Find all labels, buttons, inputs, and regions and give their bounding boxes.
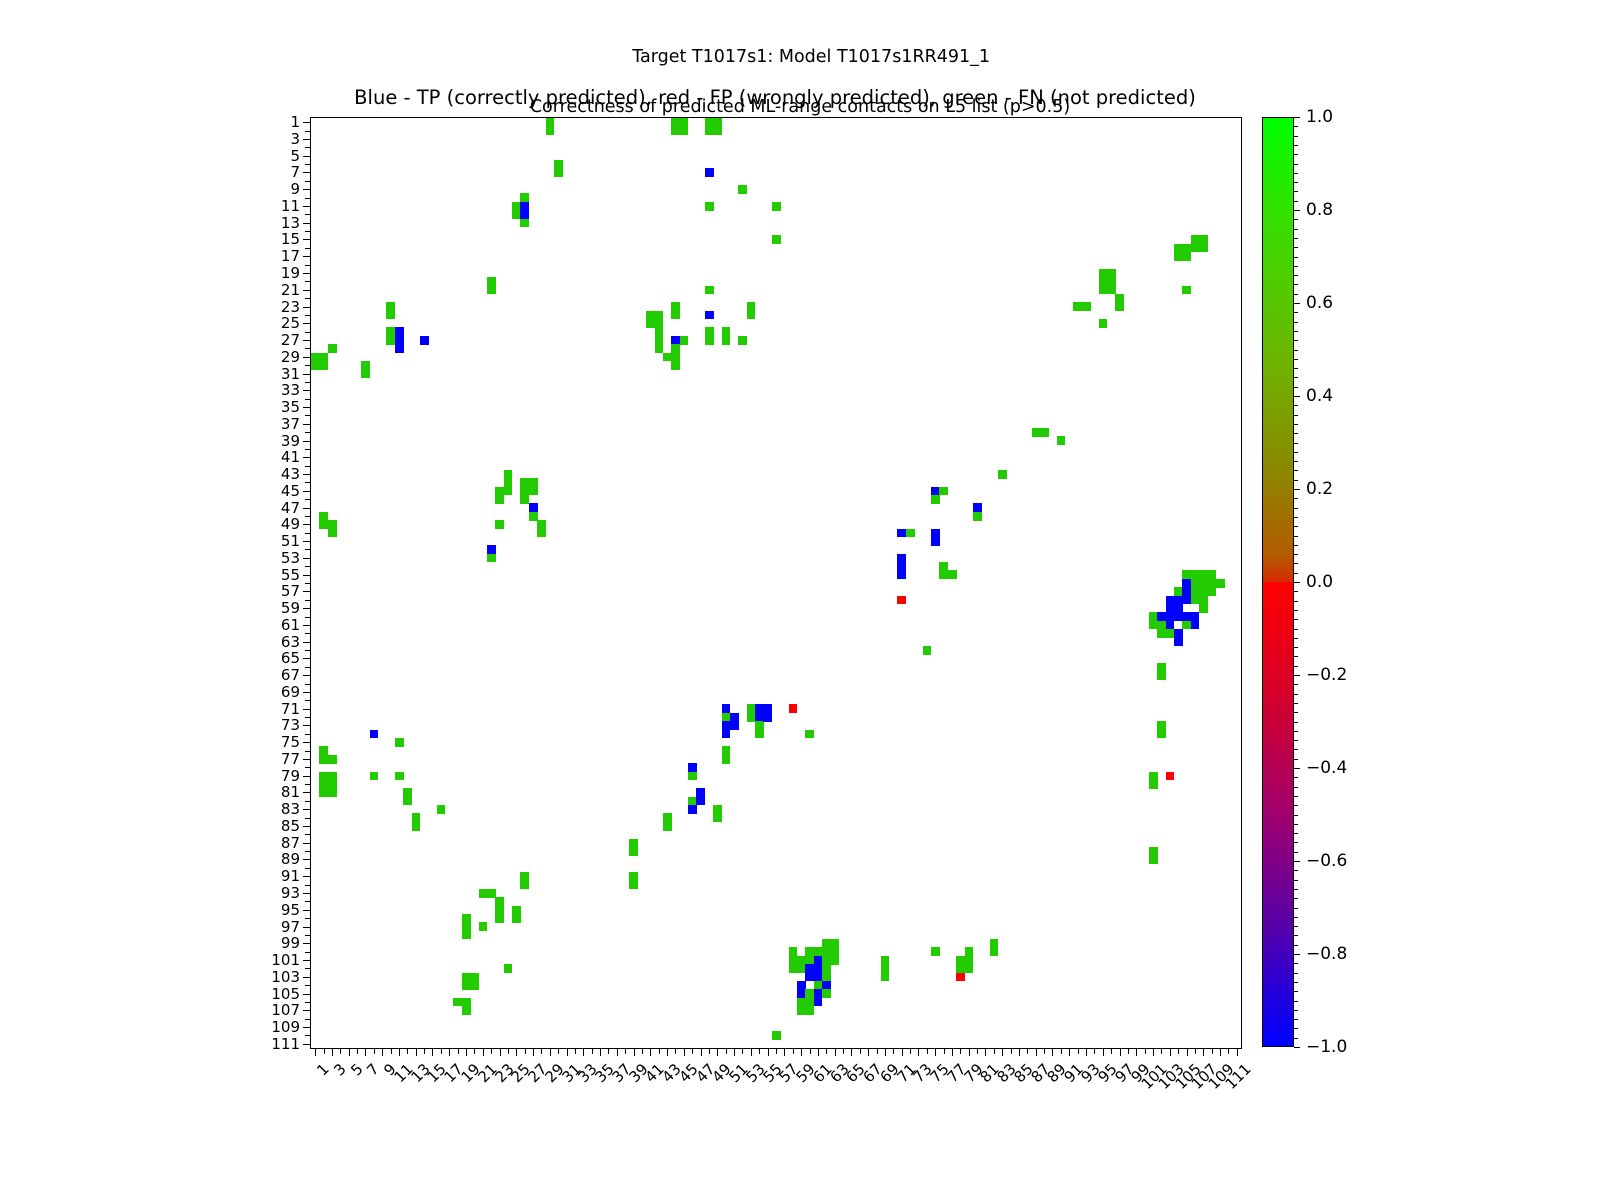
y-tick [303,843,311,844]
colorbar-minor-tick [1294,182,1298,183]
heatmap-cell [386,311,395,320]
x-tick [726,1048,727,1054]
x-tick [1103,1048,1104,1056]
x-tick [759,1048,760,1054]
x-tick [365,1048,366,1056]
heatmap-cell [990,947,999,956]
y-tick [303,457,311,458]
y-tick [303,340,311,341]
y-tick [303,1027,311,1028]
colorbar-minor-tick [1294,777,1298,778]
heatmap-cell [755,730,764,739]
y-tick-label: 25 [281,314,300,332]
y-tick-label: 79 [281,767,300,785]
x-tick [944,1048,945,1054]
colorbar-tick [1294,582,1300,583]
y-tick-label: 17 [281,247,300,265]
x-tick [600,1048,601,1056]
colorbar-minor-tick [1294,164,1298,165]
colorbar-minor-tick [1294,173,1298,174]
y-tick-label: 57 [281,582,300,600]
x-tick [977,1048,978,1054]
x-tick [500,1048,501,1056]
y-tick [303,122,311,123]
x-tick [860,1048,861,1054]
y-tick-label: 89 [281,850,300,868]
heatmap-cell [495,520,504,529]
heatmap-cell [504,964,513,973]
colorbar-minor-tick [1294,154,1298,155]
heatmap-cell [772,202,781,211]
y-tick [305,449,311,450]
y-tick [303,709,311,710]
heatmap-cell [897,570,906,579]
heatmap-cell [822,989,831,998]
y-tick-label: 35 [281,398,300,416]
x-tick-label: 5 [347,1060,366,1079]
x-tick [575,1048,576,1054]
x-tick [810,1048,811,1054]
y-tick-label: 103 [271,968,300,986]
colorbar-minor-tick [1294,666,1298,667]
colorbar-minor-tick [1294,536,1298,537]
y-tick [303,156,311,157]
colorbar-minor-tick [1294,145,1298,146]
x-tick [1052,1048,1053,1056]
x-tick [608,1048,609,1054]
x-tick [1111,1048,1112,1054]
x-tick [458,1048,459,1054]
colorbar-minor-tick [1294,359,1298,360]
colorbar-tick [1294,675,1300,676]
colorbar-minor-tick [1294,322,1298,323]
colorbar-minor-tick [1294,126,1298,127]
y-tick [305,717,311,718]
colorbar-minor-tick [1294,377,1298,378]
heatmap-cell [420,336,429,345]
heatmap-cell [705,202,714,211]
heatmap-cell [923,646,932,655]
y-tick [303,374,311,375]
y-tick [303,508,311,509]
colorbar-minor-tick [1294,722,1298,723]
x-tick [533,1048,534,1056]
y-tick [303,591,311,592]
y-tick [303,290,311,291]
y-tick-label: 87 [281,834,300,852]
heatmap-cell [772,1031,781,1040]
heatmap-cell [1207,587,1216,596]
y-tick [305,315,311,316]
y-tick [303,977,311,978]
y-tick-label: 109 [271,1018,300,1036]
y-tick-label: 31 [281,365,300,383]
colorbar-minor-tick [1294,229,1298,230]
colorbar-minor-tick [1294,703,1298,704]
heatmap-cell [487,554,496,563]
y-tick [303,223,311,224]
y-tick [305,901,311,902]
y-tick [305,365,311,366]
y-tick [305,834,311,835]
colorbar-minor-tick [1294,787,1298,788]
heatmap-cell [1182,252,1191,261]
x-tick [407,1048,408,1054]
colorbar-minor-tick [1294,350,1298,351]
colorbar-tick-label: −1.0 [1306,1037,1347,1057]
heatmap-cell [495,914,504,923]
y-tick [305,164,311,165]
y-tick-label: 39 [281,432,300,450]
colorbar-minor-tick [1294,712,1298,713]
heatmap-cell [328,755,337,764]
heatmap-cell [470,981,479,990]
y-tick [303,1010,311,1011]
colorbar-minor-tick [1294,973,1298,974]
y-tick [305,281,311,282]
colorbar-minor-tick [1294,340,1298,341]
colorbar-tick-label: −0.2 [1306,665,1347,685]
heatmap-cell [671,361,680,370]
heatmap-cell [948,570,957,579]
x-tick [952,1048,953,1056]
y-tick [303,575,311,576]
x-tick [382,1048,383,1056]
y-tick [305,952,311,953]
y-tick-label: 5 [290,147,300,165]
y-tick-label: 95 [281,901,300,919]
y-tick [303,792,311,793]
x-tick [642,1048,643,1054]
heatmap-cell [747,311,756,320]
colorbar-tick [1294,954,1300,955]
heatmap-cell [830,956,839,965]
y-tick-label: 11 [281,197,300,215]
colorbar-minor-tick [1294,498,1298,499]
y-tick [303,491,311,492]
colorbar-minor-tick [1294,824,1298,825]
y-tick [303,826,311,827]
y-tick-label: 41 [281,448,300,466]
colorbar-tick [1294,489,1300,490]
colorbar-minor-tick [1294,647,1298,648]
y-tick-label: 71 [281,700,300,718]
y-tick [305,332,311,333]
x-tick [868,1048,869,1056]
y-tick [305,1002,311,1003]
colorbar-minor-tick [1294,749,1298,750]
y-tick [305,700,311,701]
y-tick [303,608,311,609]
x-tick [877,1048,878,1054]
x-tick [374,1048,375,1054]
y-tick [303,273,311,274]
heatmap-cell [361,369,370,378]
colorbar-tick-label: 0.0 [1306,572,1333,592]
x-tick [416,1048,417,1056]
colorbar-minor-tick [1294,219,1298,220]
y-tick-label: 37 [281,415,300,433]
heatmap-cell [328,344,337,353]
x-tick [650,1048,651,1056]
y-tick-label: 47 [281,499,300,517]
colorbar-tick-label: −0.8 [1306,944,1347,964]
heatmap-cell [546,126,555,135]
y-tick [303,994,311,995]
x-tick [483,1048,484,1056]
y-tick [305,265,311,266]
heatmap-cell [897,596,906,605]
heatmap-cell [931,947,940,956]
y-tick-label: 59 [281,599,300,617]
x-tick [583,1048,584,1056]
heatmap-cell [881,973,890,982]
heatmap-cell [998,470,1007,479]
heatmap-cell [403,797,412,806]
x-tick [918,1048,919,1056]
colorbar-minor-tick [1294,731,1298,732]
figure-canvas: Target T1017s1: Model T1017s1RR491_1 Cor… [0,0,1600,1200]
heatmap-cell [713,126,722,135]
colorbar-minor-tick [1294,284,1298,285]
heatmap-cell [680,336,689,345]
colorbar-tick [1294,768,1300,769]
colorbar-minor-tick [1294,387,1298,388]
heatmap-cell [629,847,638,856]
heatmap-cell [688,805,697,814]
y-tick [305,868,311,869]
colorbar-minor-tick [1294,898,1298,899]
colorbar-minor-tick [1294,470,1298,471]
colorbar-minor-tick [1294,415,1298,416]
colorbar-minor-tick [1294,480,1298,481]
colorbar-minor-tick [1294,526,1298,527]
colorbar-tick [1294,396,1300,397]
colorbar-minor-tick [1294,136,1298,137]
heatmap-cell [1174,637,1183,646]
y-tick-label: 53 [281,549,300,567]
heatmap-cell [1166,772,1175,781]
colorbar-minor-tick [1294,935,1298,936]
contact-map-plot[interactable]: 1357911131517192123252729313335373941434… [310,117,1242,1049]
x-tick [1203,1048,1204,1056]
colorbar-minor-tick [1294,563,1298,564]
y-tick-label: 111 [271,1035,300,1053]
y-tick [303,943,311,944]
colorbar-minor-tick [1294,833,1298,834]
x-tick [734,1048,735,1056]
y-tick [305,131,311,132]
colorbar-minor-tick [1294,796,1298,797]
x-tick [1086,1048,1087,1056]
y-tick [303,239,311,240]
colorbar-minor-tick [1294,805,1298,806]
heatmap-cell [512,914,521,923]
y-tick [303,876,311,877]
heatmap-cell [520,219,529,228]
colorbar-gradient [1262,117,1294,1047]
y-tick [305,533,311,534]
heatmap-cell [370,730,379,739]
colorbar-tick-label: 0.8 [1306,200,1333,220]
colorbar-tick-label: 1.0 [1306,107,1333,127]
colorbar-minor-tick [1294,405,1298,406]
y-tick-label: 1 [290,113,300,131]
colorbar-minor-tick [1294,247,1298,248]
x-tick [424,1048,425,1054]
y-tick-label: 3 [290,130,300,148]
y-tick-label: 21 [281,281,300,299]
colorbar-minor-tick [1294,266,1298,267]
colorbar-minor-tick [1294,684,1298,685]
y-tick [305,298,311,299]
colorbar-minor-tick [1294,629,1298,630]
y-tick-label: 85 [281,817,300,835]
y-tick [305,935,311,936]
x-tick [1153,1048,1154,1056]
x-tick [709,1048,710,1054]
colorbar-minor-tick [1294,1001,1298,1002]
y-tick [305,348,311,349]
y-tick-label: 13 [281,214,300,232]
y-tick-label: 99 [281,934,300,952]
x-tick [391,1048,392,1054]
x-tick [893,1048,894,1054]
y-tick [305,801,311,802]
y-tick [305,466,311,467]
colorbar-minor-tick [1294,619,1298,620]
x-tick [474,1048,475,1054]
y-tick [303,859,311,860]
y-tick [303,541,311,542]
x-tick [449,1048,450,1056]
heatmap-cell [1149,855,1158,864]
x-tick [927,1048,928,1054]
heatmap-cell [730,721,739,730]
colorbar-minor-tick [1294,945,1298,946]
heatmap-cell [1191,621,1200,630]
heatmap-cell [814,998,823,1007]
heatmap-cell [1057,436,1066,445]
y-tick [305,214,311,215]
x-tick [541,1048,542,1054]
colorbar-minor-tick [1294,554,1298,555]
y-tick [303,139,311,140]
x-tick [793,1048,794,1054]
colorbar-minor-tick [1294,545,1298,546]
x-tick [1069,1048,1070,1056]
heatmap-cell [973,512,982,521]
x-tick [835,1048,836,1056]
heatmap-cell [529,487,538,496]
colorbar-minor-tick [1294,517,1298,518]
heatmap-cell [328,788,337,797]
y-tick [303,625,311,626]
y-tick [305,667,311,668]
heatmap-cell [412,822,421,831]
y-tick-label: 7 [290,163,300,181]
y-tick [303,960,311,961]
x-tick [1036,1048,1037,1056]
y-tick [305,617,311,618]
x-tick [742,1048,743,1054]
colorbar-tick [1294,1047,1300,1048]
x-tick [667,1048,668,1056]
colorbar-tick [1294,210,1300,211]
x-tick [1195,1048,1196,1054]
x-tick [432,1048,433,1056]
y-tick [303,390,311,391]
x-tick [1027,1048,1028,1054]
x-tick [399,1048,400,1056]
y-tick [305,818,311,819]
heatmap-cell [1040,428,1049,437]
y-tick-label: 9 [290,180,300,198]
heatmap-cell [462,931,471,940]
colorbar-minor-tick [1294,656,1298,657]
x-tick [801,1048,802,1056]
heatmap-cell [965,964,974,973]
heatmap-cell [1216,579,1225,588]
x-tick [558,1048,559,1054]
colorbar-minor-tick [1294,963,1298,964]
y-tick [303,893,311,894]
x-tick [969,1048,970,1056]
heatmap-cell [705,311,714,320]
heatmap-cell [738,336,747,345]
colorbar-minor-tick [1294,1038,1298,1039]
y-tick-label: 15 [281,230,300,248]
y-tick [305,985,311,986]
heatmap-cell [520,495,529,504]
heatmap-cell [663,822,672,831]
colorbar-minor-tick [1294,870,1298,871]
colorbar-minor-tick [1294,759,1298,760]
y-tick [303,725,311,726]
y-tick [303,407,311,408]
heatmap-cell [537,529,546,538]
y-tick-label: 75 [281,733,300,751]
colorbar-minor-tick [1294,601,1298,602]
x-tick [340,1048,341,1054]
heatmap-cell [504,487,513,496]
x-tick [776,1048,777,1054]
x-tick [692,1048,693,1054]
colorbar-tick [1294,861,1300,862]
colorbar-minor-tick [1294,917,1298,918]
heatmap-cells[interactable] [311,118,1241,1048]
y-tick [303,927,311,928]
heatmap-cell [738,185,747,194]
x-tick [592,1048,593,1054]
y-tick-label: 67 [281,666,300,684]
x-tick [684,1048,685,1056]
heatmap-cell [629,880,638,889]
y-tick-label: 69 [281,683,300,701]
x-tick [717,1048,718,1056]
y-tick [303,357,311,358]
colorbar-minor-tick [1294,815,1298,816]
x-tick [349,1048,350,1056]
heatmap-cell [495,495,504,504]
heatmap-cell [772,235,781,244]
heatmap-cell [722,336,731,345]
colorbar-minor-tick [1294,740,1298,741]
x-tick [357,1048,358,1054]
heatmap-cell [395,772,404,781]
y-tick-label: 55 [281,566,300,584]
x-tick [1061,1048,1062,1054]
